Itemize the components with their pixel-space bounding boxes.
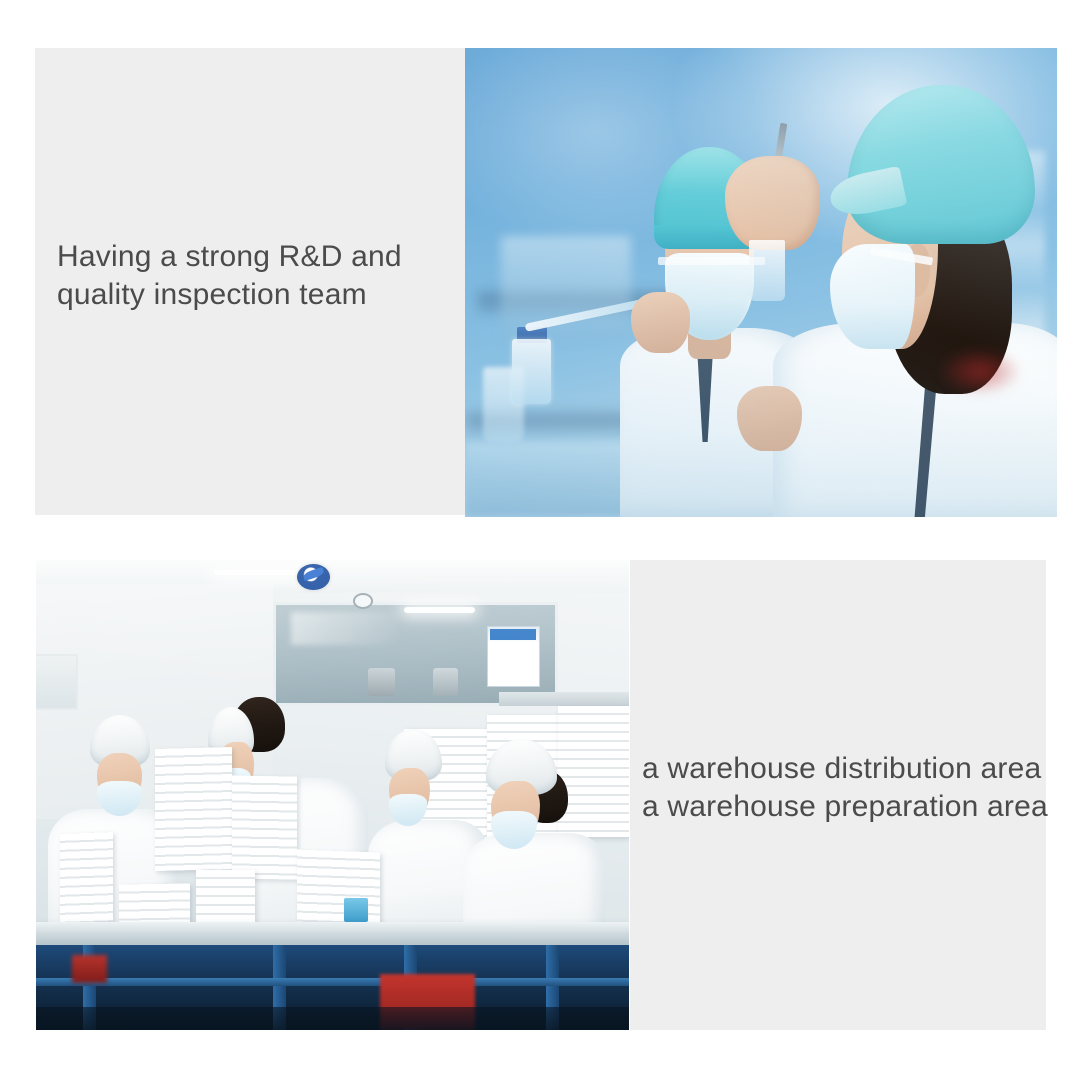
warehouse-packing-photo <box>36 560 629 1030</box>
lab-background <box>465 48 1057 517</box>
top-caption-panel: Having a strong R&D and quality inspecti… <box>35 48 466 515</box>
sample-vial <box>749 240 785 301</box>
rd-quality-inspection-photo <box>465 48 1057 517</box>
carton-stack <box>60 832 113 923</box>
notice-board-header <box>490 629 536 640</box>
hand-holding-bottle <box>631 292 690 353</box>
lab-technician-profile <box>785 76 1057 517</box>
steel-container-b <box>433 668 458 696</box>
floor-shadow <box>36 1007 629 1031</box>
background-red-object <box>939 348 1022 395</box>
slide-canvas: Having a strong R&D and quality inspecti… <box>0 0 1080 1080</box>
gloved-hand-lower <box>737 386 802 452</box>
steel-table-top <box>36 922 629 948</box>
red-object <box>72 955 108 983</box>
hairnet-cap <box>847 85 1035 244</box>
table-rail <box>36 978 629 986</box>
steel-container-a <box>368 668 395 696</box>
ceiling-light-b <box>404 607 475 613</box>
bottom-caption-text: a warehouse distribution area a warehous… <box>642 750 1052 827</box>
blue-tape-roll <box>344 898 368 922</box>
shelf-right <box>499 692 629 706</box>
reagent-bottle <box>512 339 550 405</box>
packing-room-background <box>36 560 629 1030</box>
gloved-hand-upper <box>725 156 820 250</box>
bottom-caption-panel: a warehouse distribution area a warehous… <box>630 560 1046 1030</box>
top-caption-text: Having a strong R&D and quality inspecti… <box>57 238 457 315</box>
carton-stack <box>232 776 297 881</box>
carton-stack <box>155 747 232 871</box>
wall-panel <box>36 654 78 710</box>
window-glare <box>291 612 398 645</box>
ceiling-light-a <box>214 570 309 575</box>
